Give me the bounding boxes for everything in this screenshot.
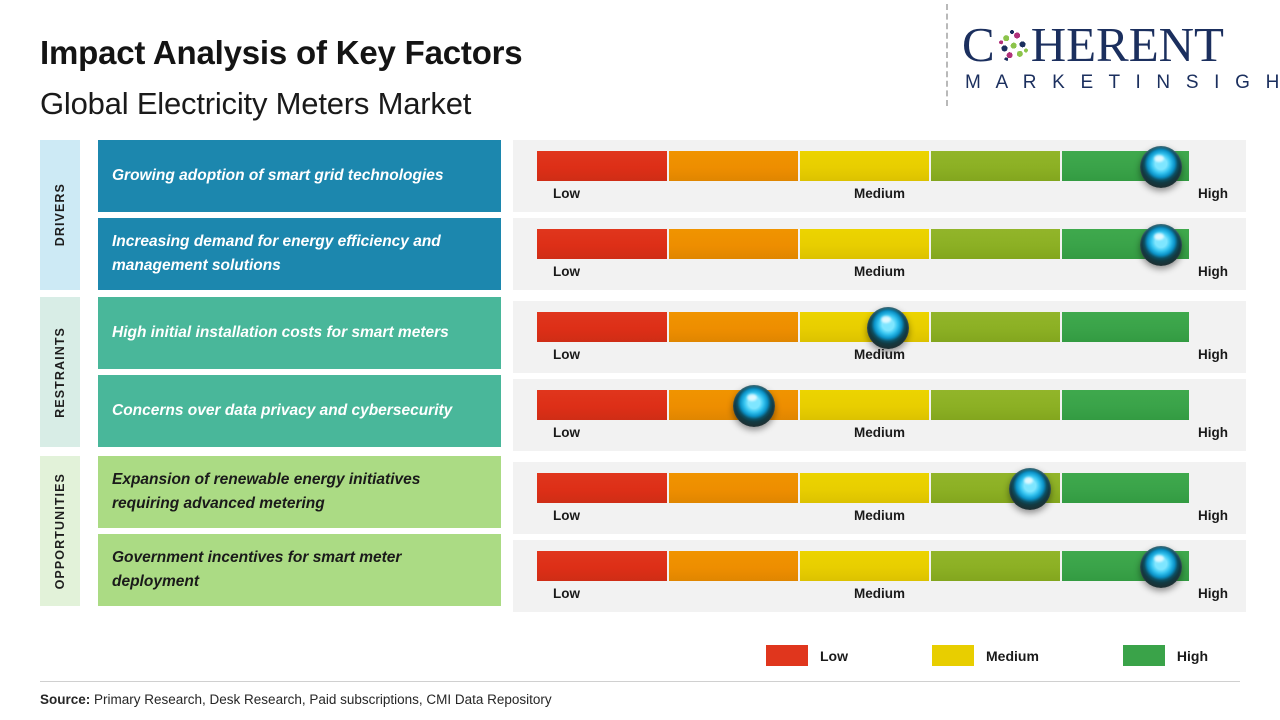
- gauge-segment-medium-high: [931, 312, 1060, 342]
- factor-box[interactable]: Increasing demand for energy efficiency …: [98, 218, 501, 290]
- page-title: Impact Analysis of Key Factors: [40, 34, 522, 72]
- category-tab-restraints: RESTRAINTS: [40, 297, 80, 447]
- gauge-segment-medium: [800, 229, 929, 259]
- scale-label-high: High: [1198, 264, 1228, 279]
- impact-marker[interactable]: [1140, 224, 1182, 266]
- logo-tagline: M A R K E T I N S I G H T S: [962, 72, 1262, 94]
- legend-label-medium: Medium: [986, 648, 1039, 664]
- gauge-segment-low: [537, 312, 667, 342]
- gauge-segment-low-medium: [669, 473, 798, 503]
- category-tab-label: RESTRAINTS: [53, 327, 67, 418]
- factor-list-opportunities: Expansion of renewable energy initiative…: [98, 456, 501, 606]
- impact-gauge-row: Low Medium High: [513, 140, 1246, 212]
- category-tab-label: DRIVERS: [53, 183, 67, 246]
- impact-marker[interactable]: [1140, 546, 1182, 588]
- page-subtitle: Global Electricity Meters Market: [40, 86, 471, 122]
- scale-label-medium: Medium: [513, 425, 1246, 440]
- company-logo: C HERENT M A R K E T I N S I G H T S: [962, 22, 1262, 94]
- factor-list-restraints: High initial installation costs for smar…: [98, 297, 501, 447]
- category-tab-opportunities: OPPORTUNITIES: [40, 456, 80, 606]
- impact-gauge-column: Low Medium High Low Medium High: [513, 140, 1246, 618]
- source-note: Source: Primary Research, Desk Research,…: [40, 692, 552, 707]
- gauge-track: [537, 312, 1187, 342]
- gauge-segment-low: [537, 229, 667, 259]
- gauge-segment-medium-high: [931, 390, 1060, 420]
- impact-legend: Low Medium High: [766, 645, 1208, 666]
- scale-label-medium: Medium: [513, 586, 1246, 601]
- impact-marker[interactable]: [1009, 468, 1051, 510]
- slide-root: Impact Analysis of Key Factors Global El…: [0, 0, 1280, 720]
- gauge-segment-low: [537, 551, 667, 581]
- gauge-segment-medium: [800, 390, 929, 420]
- scale-label-high: High: [1198, 586, 1228, 601]
- factor-box[interactable]: High initial installation costs for smar…: [98, 297, 501, 369]
- gauge-track: [537, 473, 1187, 503]
- impact-gauge-row: Low Medium High: [513, 540, 1246, 612]
- impact-marker[interactable]: [733, 385, 775, 427]
- logo-wordmark-rest: HERENT: [1031, 22, 1224, 68]
- scale-label-medium: Medium: [513, 186, 1246, 201]
- category-group-drivers: DRIVERS Growing adoption of smart grid t…: [40, 140, 501, 290]
- gauge-segment-medium-high: [931, 229, 1060, 259]
- gauge-segment-high: [1062, 312, 1189, 342]
- scale-label-medium: Medium: [513, 347, 1246, 362]
- impact-gauge-row: Low Medium High: [513, 379, 1246, 451]
- gauge-track: [537, 151, 1187, 181]
- footer-divider: [40, 681, 1240, 682]
- factor-box[interactable]: Concerns over data privacy and cybersecu…: [98, 375, 501, 447]
- impact-marker[interactable]: [867, 307, 909, 349]
- gauge-segment-high: [1062, 473, 1189, 503]
- scale-label-high: High: [1198, 508, 1228, 523]
- legend-swatch-high: [1123, 645, 1165, 666]
- gauge-segment-medium: [800, 312, 929, 342]
- category-tab-label: OPPORTUNITIES: [53, 473, 67, 589]
- category-group-opportunities: OPPORTUNITIES Expansion of renewable ene…: [40, 456, 501, 606]
- gauge-track: [537, 229, 1187, 259]
- gauge-segment-high: [1062, 390, 1189, 420]
- impact-marker[interactable]: [1140, 146, 1182, 188]
- category-tab-drivers: DRIVERS: [40, 140, 80, 290]
- gauge-segment-low-medium: [669, 551, 798, 581]
- logo-wordmark: C HERENT: [962, 22, 1262, 68]
- scale-label-high: High: [1198, 186, 1228, 201]
- scale-label-medium: Medium: [513, 264, 1246, 279]
- source-text: Primary Research, Desk Research, Paid su…: [90, 692, 551, 707]
- gauge-segment-low-medium: [669, 229, 798, 259]
- scale-label-high: High: [1198, 425, 1228, 440]
- legend-swatch-low: [766, 645, 808, 666]
- globe-dots-icon: [996, 28, 1030, 62]
- factor-box[interactable]: Expansion of renewable energy initiative…: [98, 456, 501, 528]
- gauge-track: [537, 390, 1187, 420]
- impact-gauge-row: Low Medium High: [513, 301, 1246, 373]
- impact-gauge-row: Low Medium High: [513, 462, 1246, 534]
- gauge-segment-low: [537, 151, 667, 181]
- legend-item-low: Low: [766, 645, 848, 666]
- scale-label-high: High: [1198, 347, 1228, 362]
- gauge-segment-medium: [800, 473, 929, 503]
- gauge-segment-low-medium: [669, 312, 798, 342]
- legend-swatch-medium: [932, 645, 974, 666]
- gauge-segment-medium: [800, 551, 929, 581]
- gauge-segment-low: [537, 473, 667, 503]
- gauge-segment-low-medium: [669, 151, 798, 181]
- legend-label-low: Low: [820, 648, 848, 664]
- factor-box[interactable]: Growing adoption of smart grid technolog…: [98, 140, 501, 212]
- logo-divider: [946, 4, 948, 106]
- impact-gauge-row: Low Medium High: [513, 218, 1246, 290]
- legend-item-medium: Medium: [932, 645, 1039, 666]
- gauge-segment-medium: [800, 151, 929, 181]
- category-group-restraints: RESTRAINTS High initial installation cos…: [40, 297, 501, 447]
- legend-label-high: High: [1177, 648, 1208, 664]
- scale-label-medium: Medium: [513, 508, 1246, 523]
- factor-list-drivers: Growing adoption of smart grid technolog…: [98, 140, 501, 290]
- source-label: Source:: [40, 692, 90, 707]
- gauge-track: [537, 551, 1187, 581]
- logo-letter-c: C: [962, 22, 995, 68]
- gauge-segment-medium-high: [931, 551, 1060, 581]
- legend-item-high: High: [1123, 645, 1208, 666]
- gauge-segment-medium-high: [931, 151, 1060, 181]
- gauge-segment-low: [537, 390, 667, 420]
- factor-box[interactable]: Government incentives for smart meter de…: [98, 534, 501, 606]
